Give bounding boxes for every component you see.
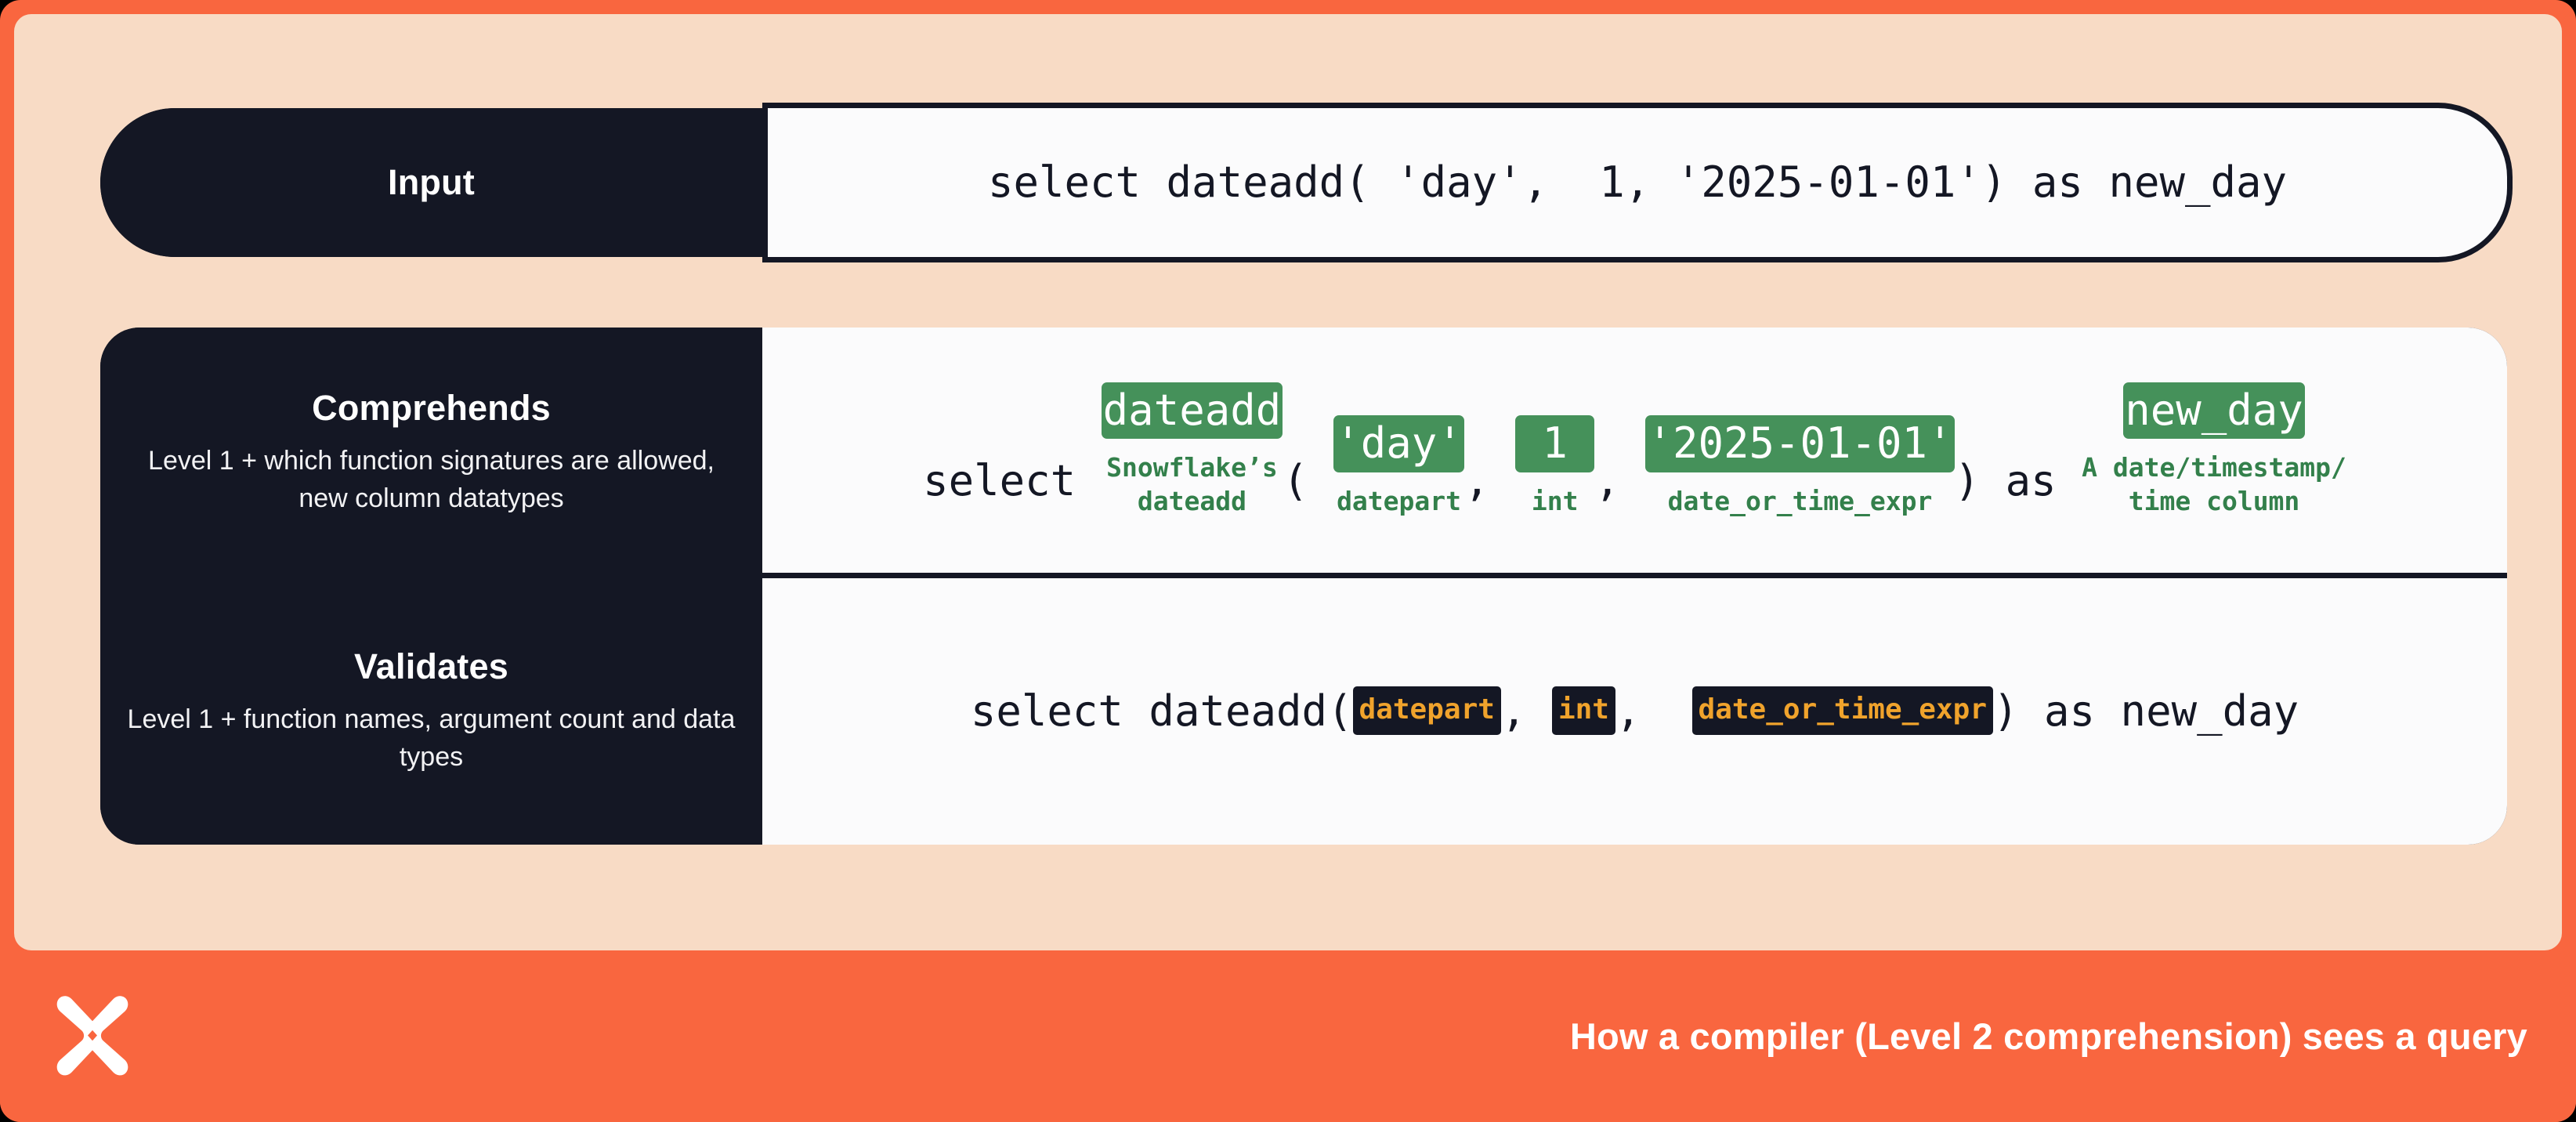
- token-annotation: datepart: [1337, 485, 1461, 518]
- validates-code-text: select dateadd(datepart, int, date_or_ti…: [971, 686, 2299, 736]
- token-code: ,: [1594, 457, 1645, 505]
- butterfly-x-logo-icon: [45, 990, 139, 1084]
- comprehends-token-row: select dateaddSnowflake’s dateadd( 'day'…: [923, 382, 2346, 518]
- token-code: 1: [1515, 415, 1595, 472]
- token-code: ,: [1464, 457, 1515, 505]
- input-title: Input: [388, 163, 475, 202]
- input-label-cell: Input: [100, 108, 762, 257]
- token-code: '2025-01-01': [1645, 415, 1954, 472]
- input-code-panel: select dateadd( 'day', 1, '2025-01-01') …: [762, 103, 2513, 262]
- validates-type-chip: int: [1552, 686, 1615, 734]
- validates-code-panel: select dateadd(datepart, int, date_or_ti…: [762, 578, 2507, 845]
- token-code: (: [1283, 457, 1333, 505]
- infographic-frame: Input select dateadd( 'day', 1, '2025-01…: [0, 0, 2576, 1122]
- comprehends-token-highlighted: 'day'datepart: [1333, 415, 1464, 517]
- comprehends-validates-card: Comprehends Level 1 + which function sig…: [100, 328, 2507, 845]
- token-code: dateadd: [1102, 382, 1283, 439]
- comprehends-row: Comprehends Level 1 + which function sig…: [100, 328, 2507, 578]
- validates-type-chip: date_or_time_expr: [1692, 686, 1993, 734]
- token-code: select: [923, 457, 1102, 505]
- comprehends-token-plain: ) as: [1955, 457, 2082, 518]
- comprehends-token-highlighted: dateaddSnowflake’s dateadd: [1102, 382, 1283, 518]
- validates-label-cell: Validates Level 1 + function names, argu…: [100, 578, 762, 845]
- token-annotation: int: [1532, 485, 1579, 518]
- content-canvas: Input select dateadd( 'day', 1, '2025-01…: [14, 14, 2562, 950]
- token-annotation: date_or_time_expr: [1668, 485, 1933, 518]
- validates-subtitle: Level 1 + function names, argument count…: [127, 700, 736, 776]
- input-code-text: select dateadd( 'day', 1, '2025-01-01') …: [988, 158, 2287, 207]
- comprehends-token-plain: ,: [1594, 457, 1645, 518]
- token-code: new_day: [2123, 382, 2305, 439]
- validates-code-segment: select dateadd(: [971, 686, 1353, 736]
- comprehends-token-highlighted: new_dayA date/timestamp/ time column: [2082, 382, 2346, 518]
- validates-row: Validates Level 1 + function names, argu…: [100, 578, 2507, 845]
- validates-type-chip: datepart: [1353, 686, 1501, 734]
- token-annotation: A date/timestamp/ time column: [2082, 451, 2346, 517]
- comprehends-token-highlighted: '2025-01-01'date_or_time_expr: [1645, 415, 1954, 517]
- token-annotation: Snowflake’s dateadd: [1106, 451, 1278, 517]
- comprehends-token-plain: ,: [1464, 457, 1515, 518]
- validates-code-segment: ,: [1615, 686, 1692, 736]
- validates-code-segment: ) as new_day: [1993, 686, 2299, 736]
- token-code: 'day': [1333, 415, 1464, 472]
- token-code: ) as: [1955, 457, 2082, 505]
- footer-bar: How a compiler (Level 2 comprehension) s…: [0, 950, 2576, 1122]
- comprehends-subtitle: Level 1 + which function signatures are …: [127, 442, 736, 518]
- comprehends-label-cell: Comprehends Level 1 + which function sig…: [100, 328, 762, 578]
- validates-code-segment: ,: [1501, 686, 1552, 736]
- comprehends-token-plain: select: [923, 457, 1102, 518]
- comprehends-token-plain: (: [1283, 457, 1333, 518]
- input-row: Input select dateadd( 'day', 1, '2025-01…: [100, 108, 2507, 257]
- comprehends-code-panel: select dateaddSnowflake’s dateadd( 'day'…: [762, 328, 2507, 578]
- footer-caption: How a compiler (Level 2 comprehension) s…: [1570, 1015, 2527, 1058]
- comprehends-token-highlighted: 1 int: [1515, 415, 1595, 517]
- comprehends-title: Comprehends: [312, 389, 551, 428]
- validates-title: Validates: [354, 647, 508, 686]
